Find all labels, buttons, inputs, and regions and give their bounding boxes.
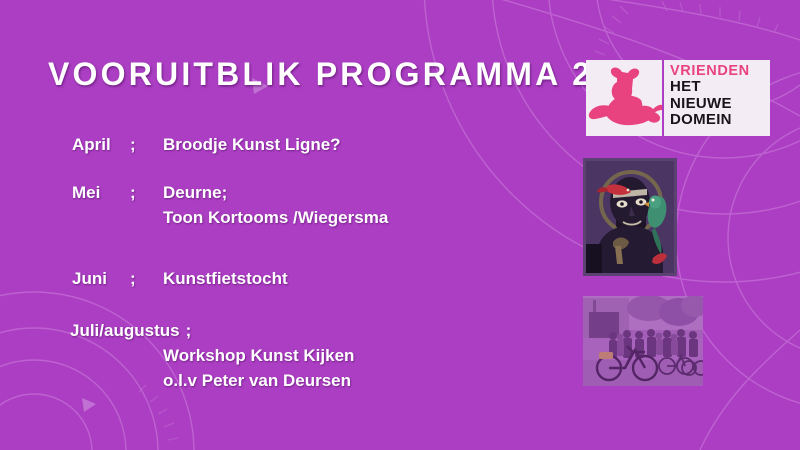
- list-item: April ; Broodje Kunst Ligne?: [0, 132, 560, 157]
- program-row: April ; Broodje Kunst Ligne?: [0, 132, 560, 157]
- event-label: Kunstfietstocht: [163, 266, 288, 291]
- separator-label: ;: [130, 266, 163, 291]
- logo-word-vrienden: VRIENDEN: [670, 64, 770, 79]
- list-item: Mei ; Deurne; Toon Kortooms /Wiegersma: [0, 180, 560, 230]
- event-label: Deurne;: [163, 180, 227, 205]
- month-label: Mei: [0, 180, 130, 205]
- logo-word-domein: DOMEIN: [670, 112, 770, 129]
- program-row: Juni ; Kunstfietstocht: [0, 266, 560, 291]
- event-subline: o.l.v Peter van Deursen: [0, 368, 560, 393]
- list-item: Juli/augustus ; Workshop Kunst Kijken o.…: [0, 318, 560, 393]
- event-subline: Workshop Kunst Kijken: [0, 343, 560, 368]
- separator-label: ;: [180, 318, 192, 343]
- list-item: Juni ; Kunstfietstocht: [0, 266, 560, 291]
- separator-label: ;: [130, 132, 163, 157]
- spacer: [0, 157, 560, 180]
- program-row: Mei ; Deurne;: [0, 180, 560, 205]
- expressionist-portrait-image: [583, 158, 677, 276]
- organisation-logo: VRIENDEN HET NIEUWE DOMEIN: [586, 60, 770, 136]
- month-label: Juni: [0, 266, 130, 291]
- cyclists-group-photo-image: [583, 296, 703, 386]
- spacer: [0, 291, 560, 318]
- separator-label: ;: [130, 180, 163, 205]
- logo-wordmark: VRIENDEN HET NIEUWE DOMEIN: [664, 60, 770, 136]
- slide-canvas: VOORUITBLIK PROGRAMMA 2025 April ; Brood…: [0, 0, 800, 450]
- dial-ticks-secondary-icon: [139, 385, 178, 440]
- page-title: VOORUITBLIK PROGRAMMA 2025: [48, 56, 656, 93]
- spacer: [0, 230, 560, 266]
- event-label: Broodje Kunst Ligne?: [163, 132, 341, 157]
- event-subline: Toon Kortooms /Wiegersma: [0, 205, 560, 230]
- program-row: Juli/augustus ;: [0, 318, 560, 343]
- leaping-calf-icon: [586, 60, 662, 136]
- program-list: April ; Broodje Kunst Ligne? Mei ; Deurn…: [0, 132, 560, 393]
- logo-word-nieuwe: NIEUWE: [670, 96, 770, 113]
- month-label: April: [0, 132, 130, 157]
- logo-word-het: HET: [670, 79, 770, 96]
- month-label: Juli/augustus: [0, 318, 180, 343]
